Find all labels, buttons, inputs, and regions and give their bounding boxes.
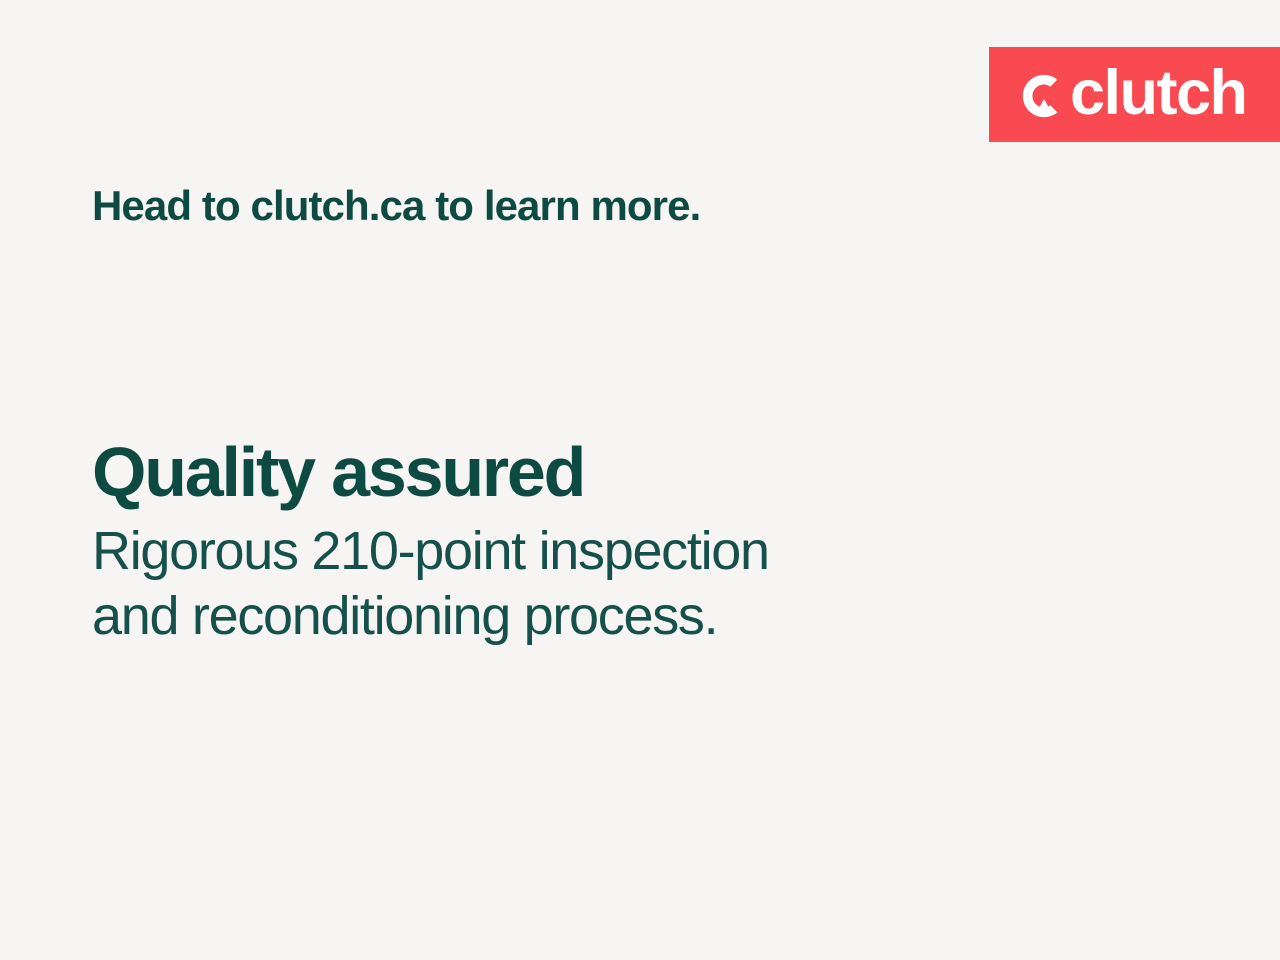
clutch-wordmark: clutch (1070, 62, 1247, 125)
logo-lockup: clutch (1021, 64, 1247, 125)
subcopy-line-1: Rigorous 210-point inspection (92, 519, 1092, 584)
subcopy: Rigorous 210-point inspection and recond… (92, 519, 1092, 649)
slide-canvas: clutch Head to clutch.ca to learn more. … (0, 0, 1280, 960)
page-title: Quality assured (92, 436, 1092, 509)
clutch-logo-badge[interactable]: clutch (989, 47, 1280, 142)
eyebrow-cta-text: Head to clutch.ca to learn more. (92, 182, 700, 229)
clutch-c-mark-icon (1021, 73, 1067, 119)
headline-block: Quality assured Rigorous 210-point inspe… (92, 436, 1092, 648)
subcopy-line-2: and reconditioning process. (92, 584, 1092, 649)
